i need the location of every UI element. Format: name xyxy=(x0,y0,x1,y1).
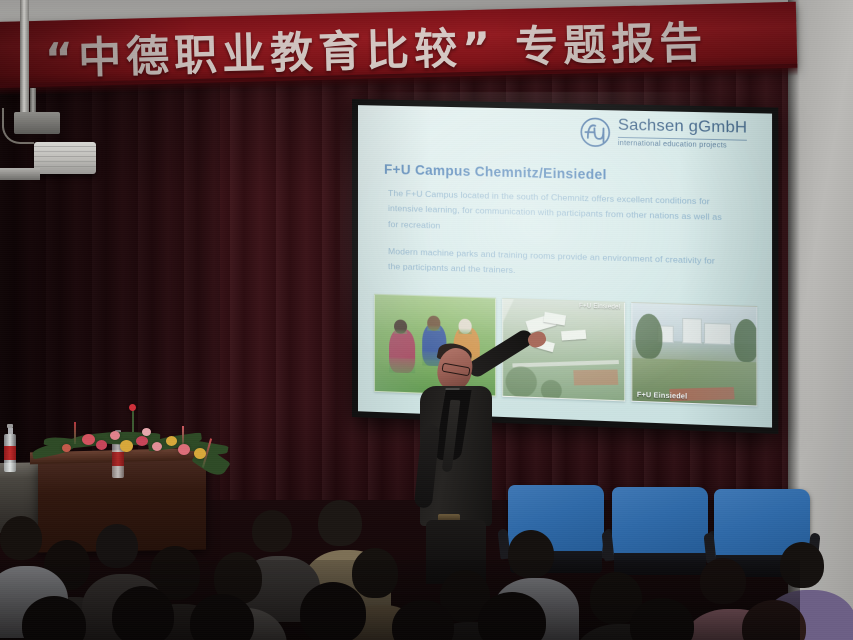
flower xyxy=(178,444,190,455)
slide-logo: Sachsen gGmbH international education pr… xyxy=(579,116,748,152)
flower-spike xyxy=(74,422,76,444)
flower xyxy=(62,444,71,452)
chair-back xyxy=(612,487,708,557)
flower xyxy=(82,434,95,445)
tree xyxy=(734,318,757,362)
head xyxy=(508,530,554,578)
campus-buildings-photo: F+U Einsiedel xyxy=(632,302,758,407)
slide-logo-subtitle: international education projects xyxy=(618,140,747,150)
building xyxy=(561,329,586,339)
head xyxy=(96,524,138,568)
water-bottle xyxy=(4,424,16,472)
building xyxy=(704,323,731,346)
f-plus-u-circle-logo xyxy=(579,116,612,149)
audience-member xyxy=(630,598,706,640)
flower xyxy=(110,431,120,440)
audience-member xyxy=(300,582,378,640)
head xyxy=(780,542,824,588)
audience-member xyxy=(22,596,98,640)
audience-member xyxy=(0,516,54,596)
head xyxy=(318,500,362,546)
lecture-hall-photo: “中德职业教育比较” 专题报告 Sachsen gGmbH internatio… xyxy=(0,0,853,640)
audience-member xyxy=(478,592,558,640)
ceiling-projector xyxy=(34,142,96,174)
projector-bracket xyxy=(14,112,60,134)
podium-flower-arrangement xyxy=(30,418,228,474)
slide-paragraph-1: The F+U Campus located in the south of C… xyxy=(388,186,726,242)
flower xyxy=(96,440,107,450)
head xyxy=(478,592,546,640)
head xyxy=(22,596,86,640)
head xyxy=(392,600,454,640)
head xyxy=(742,600,806,640)
flower xyxy=(166,436,177,446)
presenter-raised-arm xyxy=(465,327,535,380)
flower xyxy=(136,436,148,446)
slide-paragraph-2: Modern machine parks and training rooms … xyxy=(388,244,726,285)
audience-member xyxy=(190,594,266,640)
slide-body-text: The F+U Campus located in the south of C… xyxy=(388,186,726,297)
wall-ledge xyxy=(0,168,40,180)
head xyxy=(630,598,694,640)
aerial-photo-caption: F+U Einsiedel xyxy=(579,303,620,310)
stem xyxy=(132,410,134,432)
audience-member xyxy=(112,586,186,640)
stage-chair xyxy=(612,487,708,573)
head xyxy=(190,594,254,640)
bottle-label xyxy=(4,446,16,460)
audience-member xyxy=(742,600,818,640)
banner-title: “中德职业教育比较” 专题报告 xyxy=(44,8,708,87)
head xyxy=(700,558,746,604)
tree xyxy=(635,313,662,359)
head xyxy=(252,510,292,552)
head xyxy=(112,586,174,640)
building xyxy=(682,318,702,344)
slide-logo-title: Sachsen gGmbH xyxy=(618,118,747,137)
head xyxy=(300,582,366,640)
flower xyxy=(152,442,162,451)
flower xyxy=(129,404,136,411)
flower xyxy=(142,428,151,436)
audience-member xyxy=(392,600,466,640)
head xyxy=(0,516,42,560)
flower xyxy=(120,440,133,452)
slide-heading: F+U Campus Chemnitz/Einsiedel xyxy=(384,162,607,183)
flower xyxy=(194,448,206,459)
